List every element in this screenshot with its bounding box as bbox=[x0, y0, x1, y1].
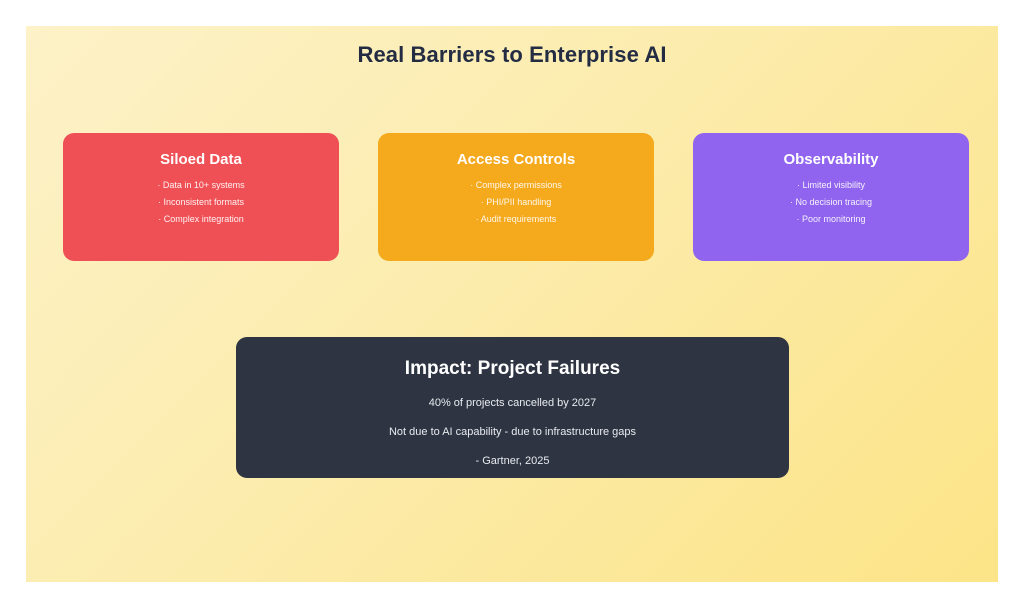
barrier-card-observability[interactable]: Observability · Limited visibility · No … bbox=[693, 133, 969, 261]
impact-source-citation: - Gartner, 2025 bbox=[476, 456, 550, 467]
barrier-card-title: Access Controls bbox=[457, 151, 575, 168]
barrier-point-list: · Data in 10+ systems · Inconsistent for… bbox=[157, 181, 244, 224]
barrier-card-access-controls[interactable]: Access Controls · Complex permissions · … bbox=[378, 133, 654, 261]
barrier-point: · Complex permissions bbox=[470, 181, 562, 190]
barrier-point-list: · Complex permissions · PHI/PII handling… bbox=[470, 181, 562, 224]
barrier-point: · PHI/PII handling bbox=[481, 198, 552, 207]
barrier-card-siloed-data[interactable]: Siloed Data · Data in 10+ systems · Inco… bbox=[63, 133, 339, 261]
barrier-point-list: · Limited visibility · No decision traci… bbox=[790, 181, 872, 224]
impact-card-title: Impact: Project Failures bbox=[405, 358, 620, 380]
impact-card[interactable]: Impact: Project Failures 40% of projects… bbox=[236, 337, 789, 478]
impact-explanation-line: Not due to AI capability - due to infras… bbox=[389, 427, 636, 438]
slide-canvas: Real Barriers to Enterprise AI Siloed Da… bbox=[26, 26, 998, 582]
barrier-cards-row: Siloed Data · Data in 10+ systems · Inco… bbox=[63, 133, 969, 261]
barrier-card-title: Siloed Data bbox=[160, 151, 242, 168]
barrier-card-title: Observability bbox=[783, 151, 878, 168]
barrier-point: · Limited visibility bbox=[797, 181, 865, 190]
barrier-point: · No decision tracing bbox=[790, 198, 872, 207]
impact-statistic-line: 40% of projects cancelled by 2027 bbox=[429, 398, 597, 409]
barrier-point: · Poor monitoring bbox=[796, 215, 865, 224]
barrier-point: · Inconsistent formats bbox=[158, 198, 244, 207]
barrier-point: · Complex integration bbox=[158, 215, 244, 224]
barrier-point: · Data in 10+ systems bbox=[157, 181, 244, 190]
page-title: Real Barriers to Enterprise AI bbox=[26, 42, 998, 68]
barrier-point: · Audit requirements bbox=[476, 215, 557, 224]
